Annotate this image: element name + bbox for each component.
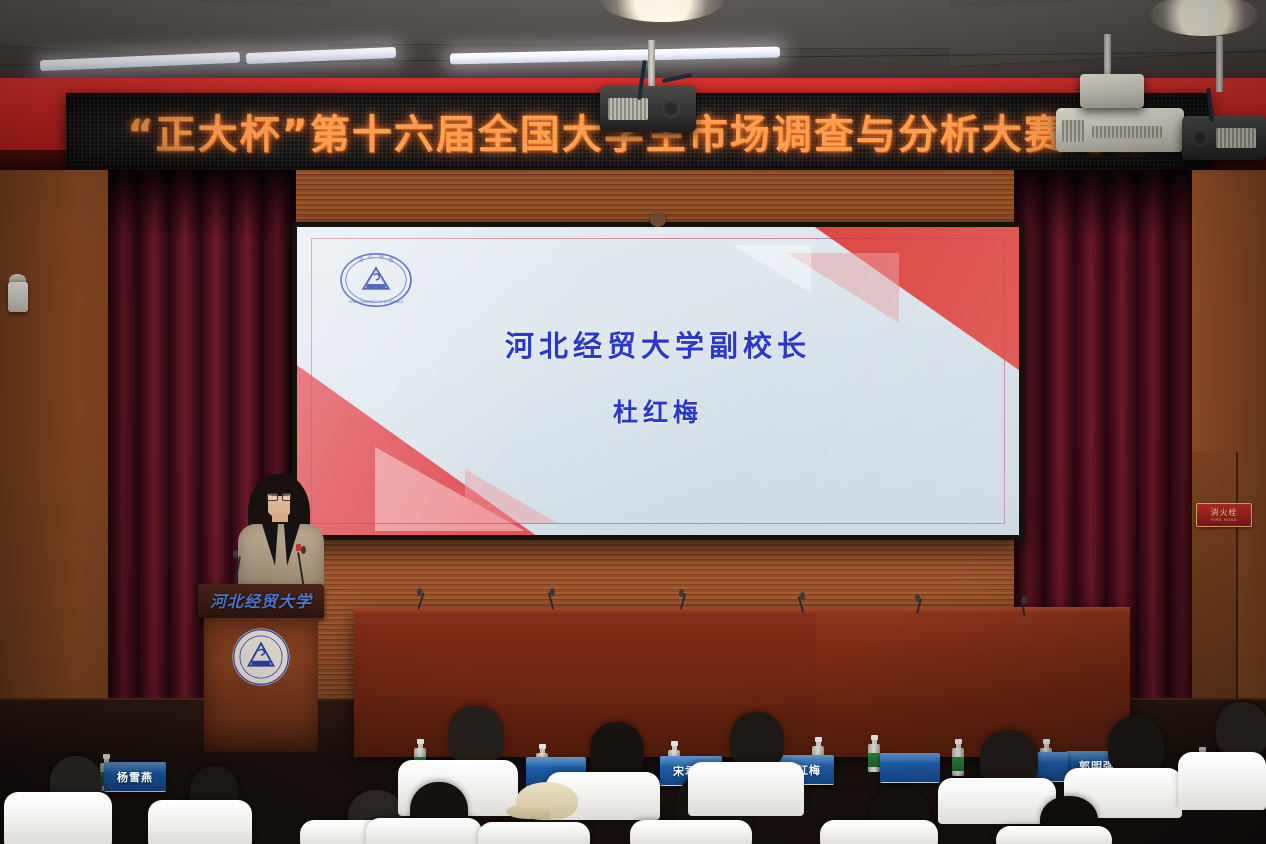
audience-seating <box>0 690 1266 844</box>
speaker-person <box>226 470 334 600</box>
slide-title-line: 河北经贸大学副校长 <box>505 323 811 365</box>
screen-mount <box>650 213 666 227</box>
audience-head <box>1108 716 1164 774</box>
audience-chair <box>938 778 1056 824</box>
table-microphone-head <box>800 592 805 600</box>
audience-chair <box>688 762 804 816</box>
table-microphone-head <box>417 588 422 596</box>
audience-head <box>730 712 784 768</box>
projector-lens <box>1192 130 1208 146</box>
audience-chair <box>630 820 752 844</box>
slide-text-block: 河北经贸大学副校长 杜红梅 <box>297 323 1019 429</box>
fire-hose-label-cn: 消火栓 <box>1211 509 1238 517</box>
baseball-cap <box>516 782 578 820</box>
slide-surface: 河北 经贸 HEBEI UNIVERSITY OF ECONOMICS 河北经贸… <box>297 227 1019 535</box>
curtain-shadow <box>108 170 296 240</box>
tube-light <box>40 52 240 71</box>
audience-chair <box>996 826 1112 844</box>
projector-lens <box>662 100 680 118</box>
audience-chair <box>4 792 112 844</box>
projector-left-unit <box>1056 108 1184 152</box>
projector-bracket <box>1080 74 1144 108</box>
projector-mount-pole <box>1216 36 1223 92</box>
projector-vent <box>1216 128 1256 148</box>
audience-chair <box>148 800 252 844</box>
ceiling-panel <box>330 0 630 45</box>
audience-head <box>448 706 504 764</box>
table-microphone-head <box>679 589 684 597</box>
audience-head <box>1216 702 1266 756</box>
projector-vent <box>608 98 648 120</box>
fire-hose-sign: 消火栓 FIRE HOSE <box>1196 503 1252 527</box>
fire-hose-label-en: FIRE HOSE <box>1211 518 1237 522</box>
table-microphone-head <box>550 588 555 596</box>
curtain-shadow <box>1014 170 1192 240</box>
podium-institution-label: 河北经贸大学 <box>198 588 324 612</box>
hebei-university-seal-icon <box>230 626 292 688</box>
table-microphone-head <box>1022 596 1027 604</box>
cap-brim <box>506 804 550 819</box>
projector-mount-pole <box>648 40 655 92</box>
projector-vent <box>1062 120 1084 142</box>
placard-name-text: 杨雪燕 <box>117 769 153 785</box>
blazer-lapel <box>262 524 278 566</box>
slide-name-line: 杜红梅 <box>613 393 703 429</box>
audience-chair <box>820 820 938 844</box>
projector-right-unit <box>1182 116 1266 160</box>
wall-speaker <box>8 282 28 312</box>
podium-microphone-head <box>233 550 238 558</box>
projector-mount-pole <box>1104 34 1111 74</box>
projector-ports <box>1092 126 1162 138</box>
tube-light <box>450 47 780 65</box>
audience-chair <box>478 822 590 844</box>
audience-chair <box>1178 752 1266 810</box>
projection-screen: 河北 经贸 HEBEI UNIVERSITY OF ECONOMICS 河北经贸… <box>292 222 1024 540</box>
projector-center <box>600 86 696 132</box>
auditorium-scene: “正大杯”第十六届全国大学生市场调查与分析大赛河北 消火栓 FIRE HOSE <box>0 0 1266 844</box>
table-microphone-head <box>915 594 920 602</box>
audience-chair <box>366 818 482 844</box>
audience-head <box>590 722 644 778</box>
podium-microphone-head <box>301 546 306 554</box>
